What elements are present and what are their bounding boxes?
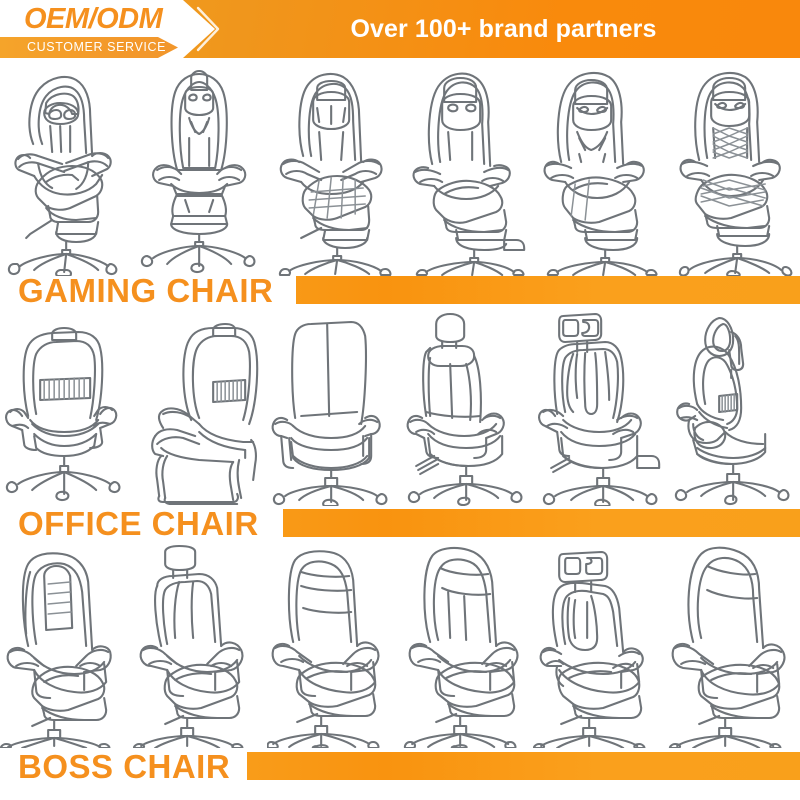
gaming-chair-row: [0, 60, 800, 276]
gaming-chair-recliner-footrest: [0, 60, 133, 276]
boss-chair-mesh-headrest: [533, 542, 666, 748]
chair-cell: [533, 308, 666, 506]
chair-cell: [267, 308, 400, 506]
chair-cell: [0, 308, 133, 506]
office-chair-ergonomic-lumbar: [667, 308, 800, 506]
gaming-chair-high-back-front: [133, 60, 266, 276]
gaming-chair-racing-footrest: [400, 60, 533, 276]
office-chair-row: [0, 308, 800, 506]
chair-cell: [400, 542, 533, 748]
section-bar-gaming: GAMING CHAIR: [0, 276, 800, 306]
office-chair-mesh-task: [0, 308, 133, 506]
office-chair-executive-headrest: [400, 308, 533, 506]
chair-cell: [133, 308, 266, 506]
chair-cell: [533, 542, 666, 748]
chair-cell: [400, 60, 533, 276]
boss-chair-ribbed-highback: [0, 542, 133, 748]
chair-cell: [400, 308, 533, 506]
chair-cell: [667, 542, 800, 748]
boss-chair-adjustable-headrest: [133, 542, 266, 748]
chair-cell: [133, 60, 266, 276]
banner-headline: Over 100+ brand partners: [215, 0, 800, 58]
chair-cell: [267, 542, 400, 748]
section-label-office: OFFICE CHAIR: [18, 507, 259, 540]
chair-cell: [133, 542, 266, 748]
oem-odm-title: OEM/ODM: [24, 3, 162, 36]
boss-chair-wide-executive: [400, 542, 533, 748]
section-label-boss: BOSS CHAIR: [18, 750, 230, 783]
chair-cell: [667, 60, 800, 276]
section-bar-office: OFFICE CHAIR: [0, 509, 800, 539]
gaming-chair-diamond-stitch: [667, 60, 800, 276]
header-banner: OEM/ODM CUSTOMER SERVICE Over 100+ brand…: [0, 0, 800, 58]
chair-cell: [533, 60, 666, 276]
chair-cell: [267, 60, 400, 276]
chair-cell: [667, 308, 800, 506]
section-label-gaming: GAMING CHAIR: [18, 274, 273, 307]
section-bar-boss: BOSS CHAIR: [0, 752, 800, 782]
gaming-chair-quilted-seat: [267, 60, 400, 276]
catalog-page: OEM/ODM CUSTOMER SERVICE Over 100+ brand…: [0, 0, 800, 800]
gaming-chair-wide-wing: [533, 60, 666, 276]
office-chair-sled-base-visitor: [133, 308, 266, 506]
chair-cell: [0, 542, 133, 748]
customer-service-label: CUSTOMER SERVICE: [27, 39, 166, 56]
boss-chair-padded-recliner: [267, 542, 400, 748]
chair-cell: [0, 60, 133, 276]
boss-chair-tall-back-recliner: [667, 542, 800, 748]
boss-chair-row: [0, 542, 800, 748]
office-chair-mesh-headrest-footrest: [533, 308, 666, 506]
office-chair-midback-leather: [267, 308, 400, 506]
